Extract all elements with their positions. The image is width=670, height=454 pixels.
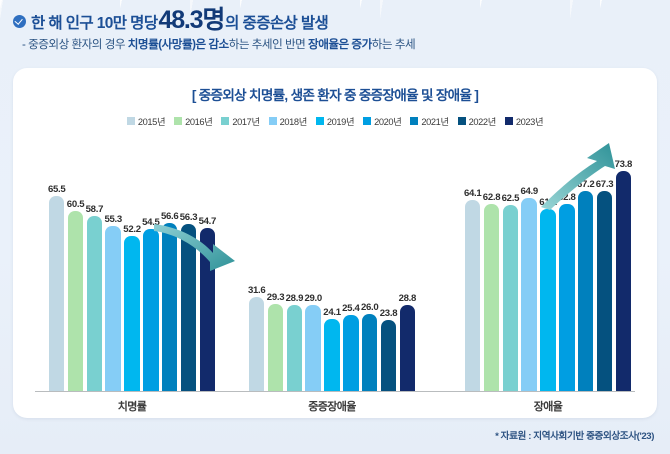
bar[interactable] [616,171,631,391]
bar-item[interactable]: 58.7 [87,140,102,391]
bar-item[interactable]: 60.5 [68,140,83,391]
bar-value-label: 29.0 [304,293,321,304]
legend-item[interactable]: 2019년 [316,114,354,128]
x-axis-category-label: 중증장애율 [249,398,415,414]
bar-value-label: 56.6 [161,211,178,222]
bar[interactable] [559,204,574,391]
legend-label: 2017년 [232,114,259,128]
legend-swatch-icon [458,117,466,125]
bar-group-bars: 31.629.328.929.024.125.426.023.828.8 [249,140,415,391]
legend-item[interactable]: 2018년 [269,114,307,128]
bar-group-bars: 64.162.862.564.961.262.867.267.373.8 [465,140,631,391]
bar[interactable] [162,223,177,391]
bar[interactable] [521,198,536,391]
legend-swatch-icon [269,117,277,125]
bar-item[interactable]: 24.1 [324,140,339,391]
bar-item[interactable]: 56.3 [181,140,196,391]
bar-value-label: 23.8 [380,308,397,319]
subline-part-4: 장애율은 증가 [308,38,372,51]
legend-swatch-icon [363,117,371,125]
bar[interactable] [87,216,102,391]
headline-highlight-value: 48.3명 [158,8,226,33]
legend-item[interactable]: 2016년 [174,114,212,128]
chart-plot-area: 65.560.558.755.352.254.556.656.354.7치명률3… [27,140,643,392]
bar-group: 64.162.862.564.961.262.867.267.373.8장애율 [465,140,631,391]
bar-item[interactable]: 55.3 [105,140,120,391]
bar[interactable] [540,209,555,391]
bar[interactable] [381,320,396,391]
bar[interactable] [105,226,120,391]
legend-item[interactable]: 2021년 [410,114,448,128]
headline-primary: 한 해 인구 10만 명당 48.3명 의 중증손상 발생 [13,8,328,33]
bar-item[interactable]: 64.1 [465,140,480,391]
subline-part-2: 치명률(사망률)은 감소 [128,38,229,51]
bar-item[interactable]: 52.2 [124,140,139,391]
bar-group: 65.560.558.755.352.254.556.656.354.7치명률 [49,140,215,391]
legend-item[interactable]: 2020년 [363,114,401,128]
bar-value-label: 58.7 [86,204,103,215]
bar[interactable] [249,297,264,391]
header: 한 해 인구 10만 명당 48.3명 의 중증손상 발생 - 중증외상 환자의… [0,0,670,64]
bar-value-label: 61.2 [539,197,556,208]
bar-value-label: 55.3 [104,214,121,225]
bar-value-label: 64.1 [464,188,481,199]
bar-value-label: 26.0 [361,302,378,313]
bar-value-label: 64.9 [520,186,537,197]
bar-item[interactable]: 64.9 [521,140,536,391]
legend-label: 2023년 [516,114,543,128]
source-footnote: * 자료원 : 지역사회기반 중증외상조사('23) [495,428,654,442]
bar[interactable] [49,196,64,391]
bar-item[interactable]: 54.5 [143,140,158,391]
bar-item[interactable]: 28.9 [287,140,302,391]
bar[interactable] [305,305,320,391]
bar-item[interactable]: 23.8 [381,140,396,391]
legend-swatch-icon [505,117,513,125]
bar-item[interactable]: 31.6 [249,140,264,391]
bar-item[interactable]: 56.6 [162,140,177,391]
legend-swatch-icon [410,117,418,125]
bar-value-label: 73.8 [615,159,632,170]
bar[interactable] [68,211,83,391]
bar-item[interactable]: 29.3 [268,140,283,391]
bar[interactable] [400,305,415,391]
bar[interactable] [143,229,158,391]
bar-value-label: 60.5 [67,199,84,210]
subline-part-3: 하는 추세인 반면 [229,38,308,51]
bar-value-label: 28.9 [286,293,303,304]
bar-group-bars: 65.560.558.755.352.254.556.656.354.7 [49,140,215,391]
bar-value-label: 62.8 [483,192,500,203]
bar[interactable] [200,228,215,391]
bar-item[interactable]: 61.2 [540,140,555,391]
bar-item[interactable]: 28.8 [400,140,415,391]
legend-item[interactable]: 2023년 [505,114,543,128]
bar-item[interactable]: 26.0 [362,140,377,391]
bar-item[interactable]: 67.2 [578,140,593,391]
bar-value-label: 31.6 [248,285,265,296]
bar-value-label: 62.8 [558,192,575,203]
legend-item[interactable]: 2017년 [221,114,259,128]
legend-label: 2015년 [138,114,165,128]
bar[interactable] [268,304,283,391]
bar[interactable] [181,224,196,391]
legend-swatch-icon [174,117,182,125]
bar-value-label: 29.3 [267,292,284,303]
subline-part-1: - 중증외상 환자의 경우 [22,38,128,51]
legend-label: 2021년 [421,114,448,128]
bar[interactable] [287,305,302,391]
bar-value-label: 52.2 [123,224,140,235]
legend-item[interactable]: 2015년 [127,114,165,128]
bar[interactable] [465,200,480,391]
bar-value-label: 28.8 [399,293,416,304]
bar-value-label: 56.3 [180,212,197,223]
legend-swatch-icon [316,117,324,125]
bar-item[interactable]: 29.0 [305,140,320,391]
bar[interactable] [362,314,377,391]
chart-legend: 2015년2016년2017년2018년2019년2020년2021년2022년… [13,114,657,128]
bar-item[interactable]: 62.8 [484,140,499,391]
bar[interactable] [503,205,518,391]
legend-label: 2019년 [327,114,354,128]
x-axis-category-label: 장애율 [465,398,631,414]
subline-part-5: 하는 추세 [372,38,415,51]
check-circle-icon [13,15,26,28]
bar[interactable] [324,319,339,391]
axis-baseline [35,391,635,392]
headline-prefix: 한 해 인구 10만 명당 [31,11,158,33]
legend-label: 2018년 [280,114,307,128]
legend-label: 2020년 [374,114,401,128]
x-axis-category-label: 치명률 [49,398,215,414]
bar[interactable] [484,204,499,391]
bar-item[interactable]: 54.7 [200,140,215,391]
chart-title: [ 중증외상 치명률, 생존 환자 중 중증장애율 및 장애율 ] [13,84,657,104]
bar-item[interactable]: 62.8 [559,140,574,391]
bar[interactable] [578,191,593,391]
legend-swatch-icon [221,117,229,125]
bar[interactable] [343,315,358,391]
legend-label: 2022년 [469,114,496,128]
bar-value-label: 67.2 [577,179,594,190]
bar-group: 31.629.328.929.024.125.426.023.828.8중증장애… [249,140,415,391]
legend-label: 2016년 [185,114,212,128]
bar[interactable] [597,191,612,391]
bar-value-label: 25.4 [342,303,359,314]
chart-card: [ 중증외상 치명률, 생존 환자 중 중증장애율 및 장애율 ] 2015년2… [13,68,657,418]
bar-item[interactable]: 65.5 [49,140,64,391]
bar-value-label: 24.1 [323,307,340,318]
bar-value-label: 67.3 [596,179,613,190]
bar-item[interactable]: 73.8 [616,140,631,391]
bar-value-label: 54.7 [199,216,216,227]
legend-item[interactable]: 2022년 [458,114,496,128]
headline-secondary: - 중증외상 환자의 경우 치명률(사망률)은 감소하는 추세인 반면 장애율은… [22,36,415,52]
bar[interactable] [124,236,139,391]
bar-value-label: 54.5 [142,217,159,228]
legend-swatch-icon [127,117,135,125]
bar-value-label: 62.5 [502,193,519,204]
bar-item[interactable]: 67.3 [597,140,612,391]
bar-item[interactable]: 25.4 [343,140,358,391]
bar-item[interactable]: 62.5 [503,140,518,391]
headline-suffix: 의 중증손상 발생 [225,11,328,33]
page-background: 한 해 인구 10만 명당 48.3명 의 중증손상 발생 - 중증외상 환자의… [0,0,670,454]
bar-value-label: 65.5 [48,184,65,195]
